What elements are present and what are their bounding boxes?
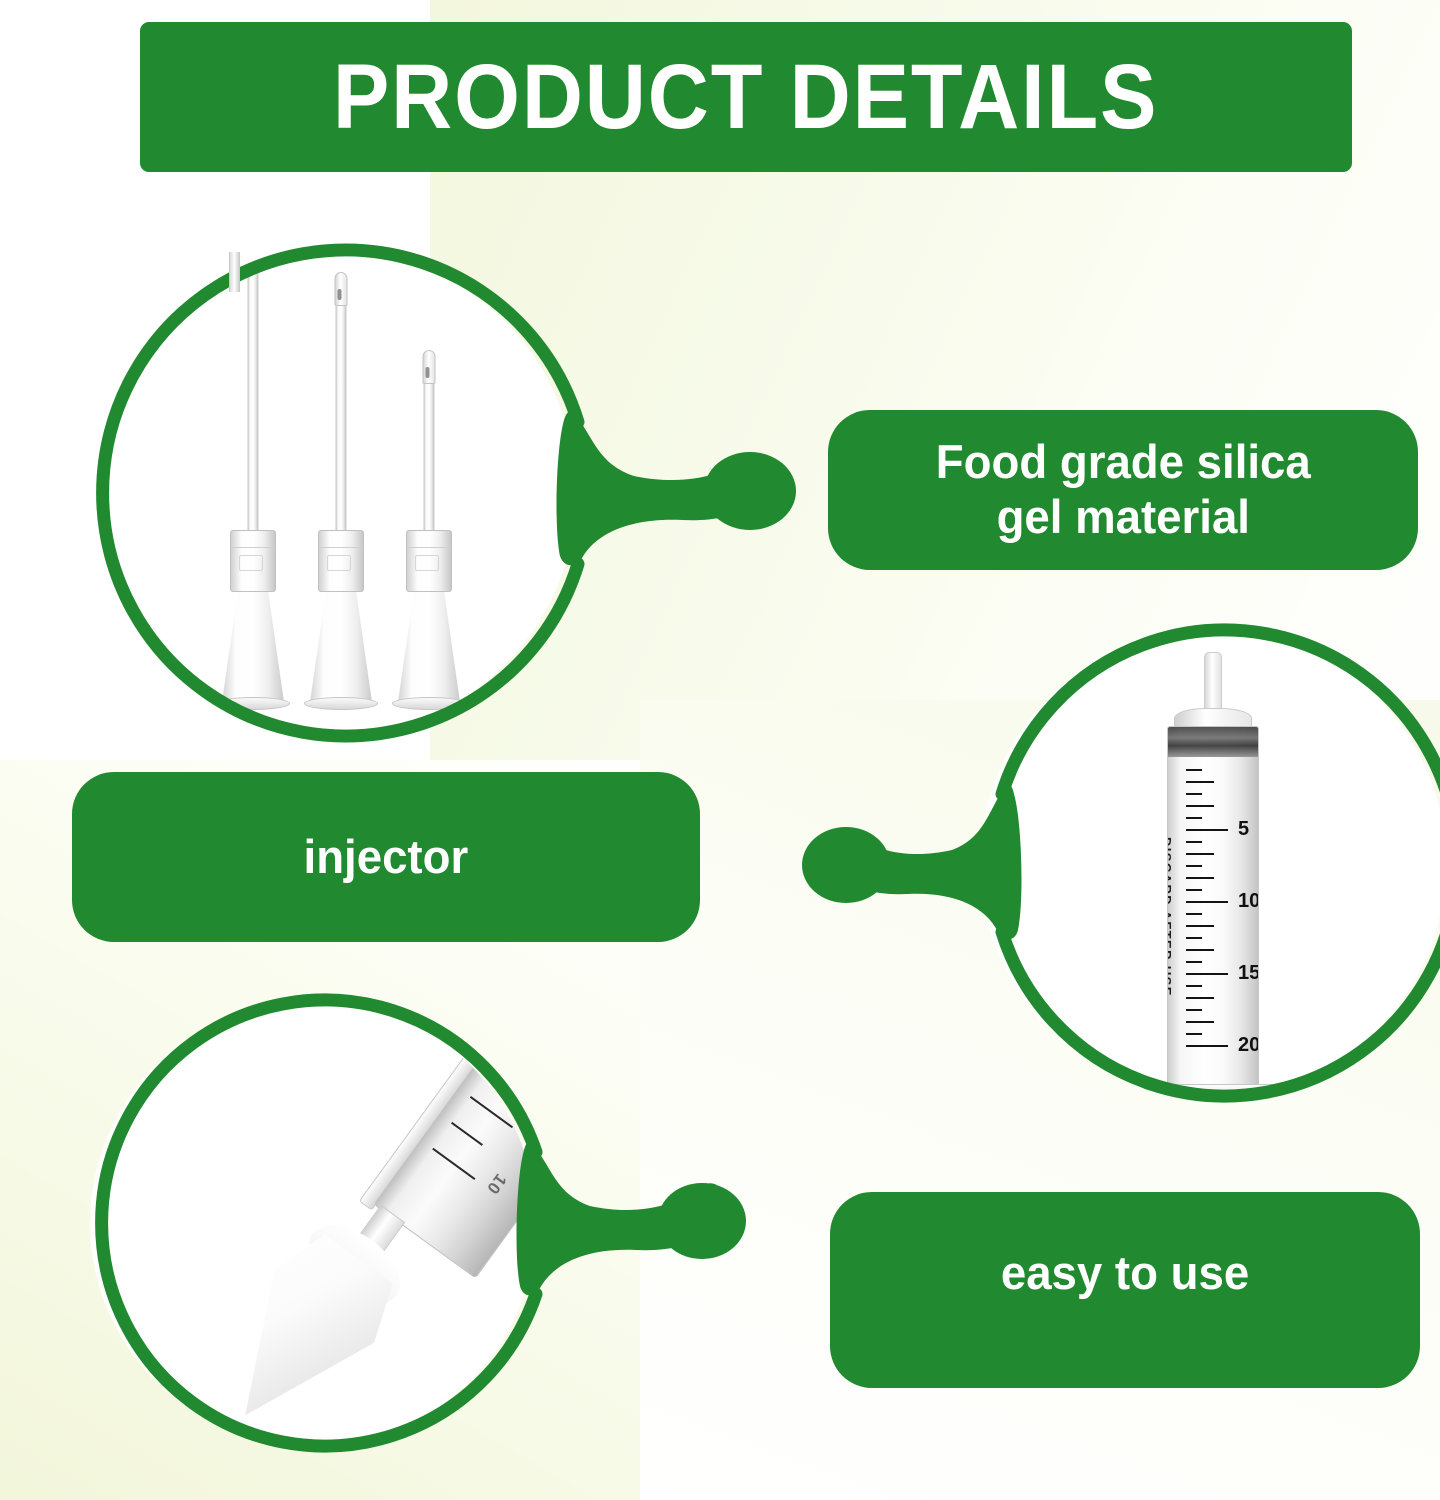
feature-label-text: easy to use <box>1001 1246 1249 1301</box>
feature-circle-syringe <box>968 618 1440 1108</box>
header-banner: PRODUCT DETAILS <box>140 22 1352 172</box>
feature-label-text: Food grade silica gel material <box>936 435 1311 544</box>
feature-label-food-grade[interactable]: Food grade silica gel material <box>828 410 1418 570</box>
page-title: PRODUCT DETAILS <box>333 51 1158 143</box>
feature-circle-needles <box>78 238 938 748</box>
feature-label-text: injector <box>304 830 469 885</box>
needle-long-overflow <box>229 252 240 292</box>
feature-label-easy-to-use[interactable]: easy to use <box>830 1192 1420 1388</box>
product-details-infographic: PRODUCT DETAILS <box>0 0 1440 1500</box>
feature-label-injector[interactable]: injector <box>72 772 700 942</box>
feature-circle-applicator <box>78 988 898 1458</box>
